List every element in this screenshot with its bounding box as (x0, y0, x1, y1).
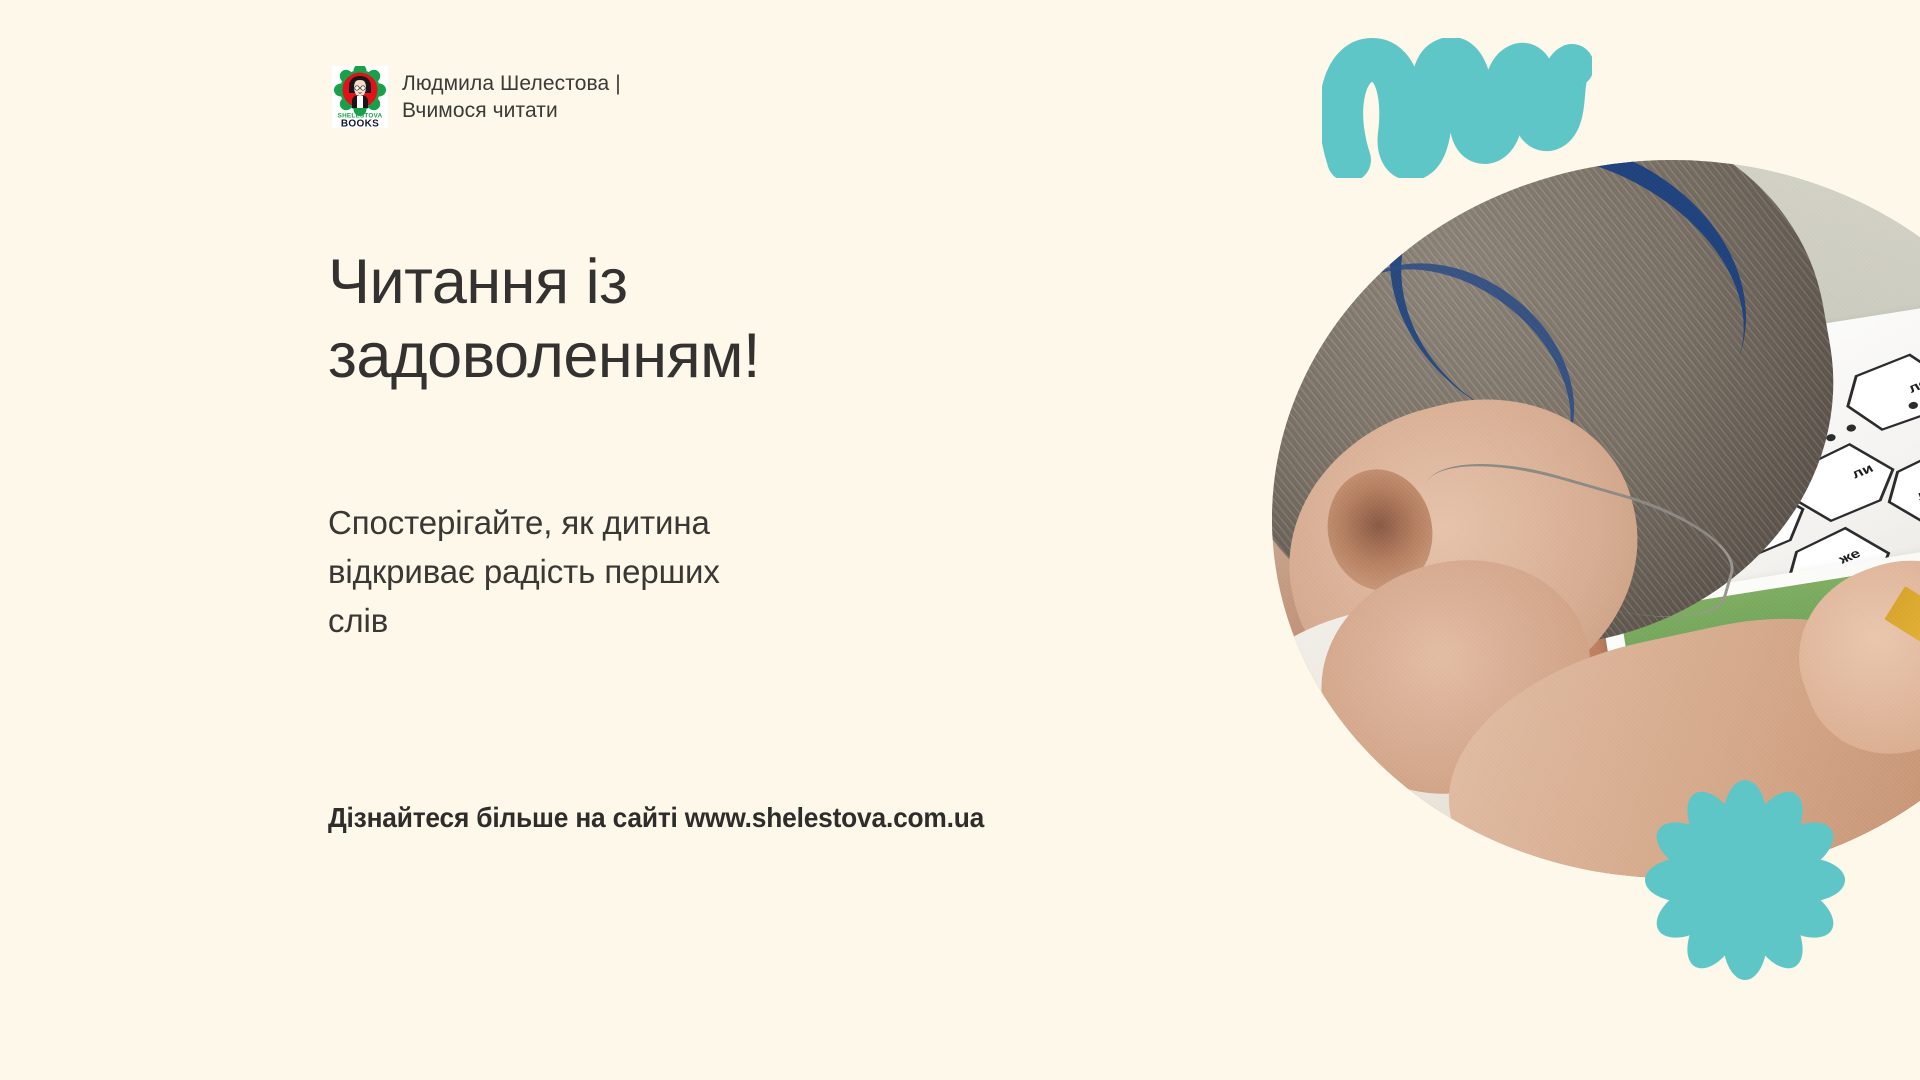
cta-website-link[interactable]: Дізнайтеся більше на сайті www.shelestov… (328, 802, 984, 834)
page-subtitle: Спостерігайте, як дитина відкриває радіс… (328, 499, 848, 645)
slide-canvas: ло же ли лі ле АЕРОПОРТ (0, 0, 1920, 1080)
hero-photo: ло же ли лі ле АЕРОПОРТ (1272, 160, 1920, 878)
hero-photo-content: ло же ли лі ле АЕРОПОРТ (1272, 160, 1920, 878)
teal-squiggle-shape (1322, 38, 1592, 178)
page-title: Читання із задоволенням! (328, 245, 948, 394)
brand-header: SHELESTOVA BOOKS Людмила Шелестова | Вчи… (332, 66, 621, 128)
teal-flower-shape (1645, 780, 1845, 980)
shelestova-books-logo: SHELESTOVA BOOKS (332, 66, 388, 128)
brand-name-label: Людмила Шелестова | Вчимося читати (400, 70, 621, 125)
logo-word-bottom: BOOKS (341, 119, 379, 129)
